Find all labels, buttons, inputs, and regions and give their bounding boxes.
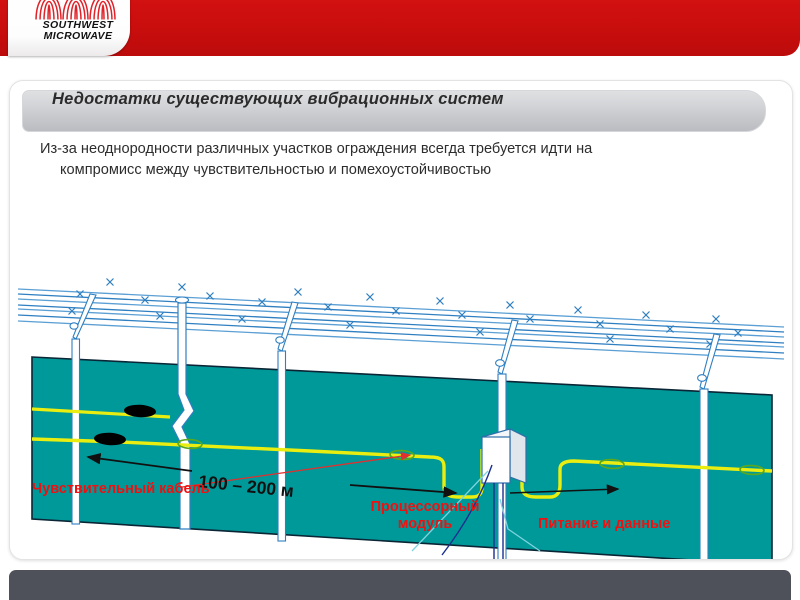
body-line-2: компромисс между чувствительностью и пом… [40,160,740,181]
logo-plate[interactable]: SOUTHWEST MICROWAVE [8,0,130,56]
logo-wordmark: SOUTHWEST MICROWAVE [30,20,126,42]
label-processor-module: Процессорный модуль [360,499,490,533]
slide-body-text: Из-за неоднородности различных участков … [40,139,740,181]
footer-bar [9,570,791,600]
label-processor-module-line1: Процессорный [360,499,490,516]
header-band: SOUTHWEST MICROWAVE [0,0,800,56]
logo-wordmark-line2: MICROWAVE [30,31,126,42]
slide-title: Недостатки существующих вибрационных сис… [52,90,504,109]
label-power-and-data: Питание и данные [538,516,670,533]
slide-card: Недостатки существующих вибрационных сис… [9,80,793,560]
label-sensor-cable: Чувствительный кабель [32,481,210,498]
label-processor-module-line2: модуль [360,516,490,533]
body-line-1: Из-за неоднородности различных участков … [40,141,592,157]
